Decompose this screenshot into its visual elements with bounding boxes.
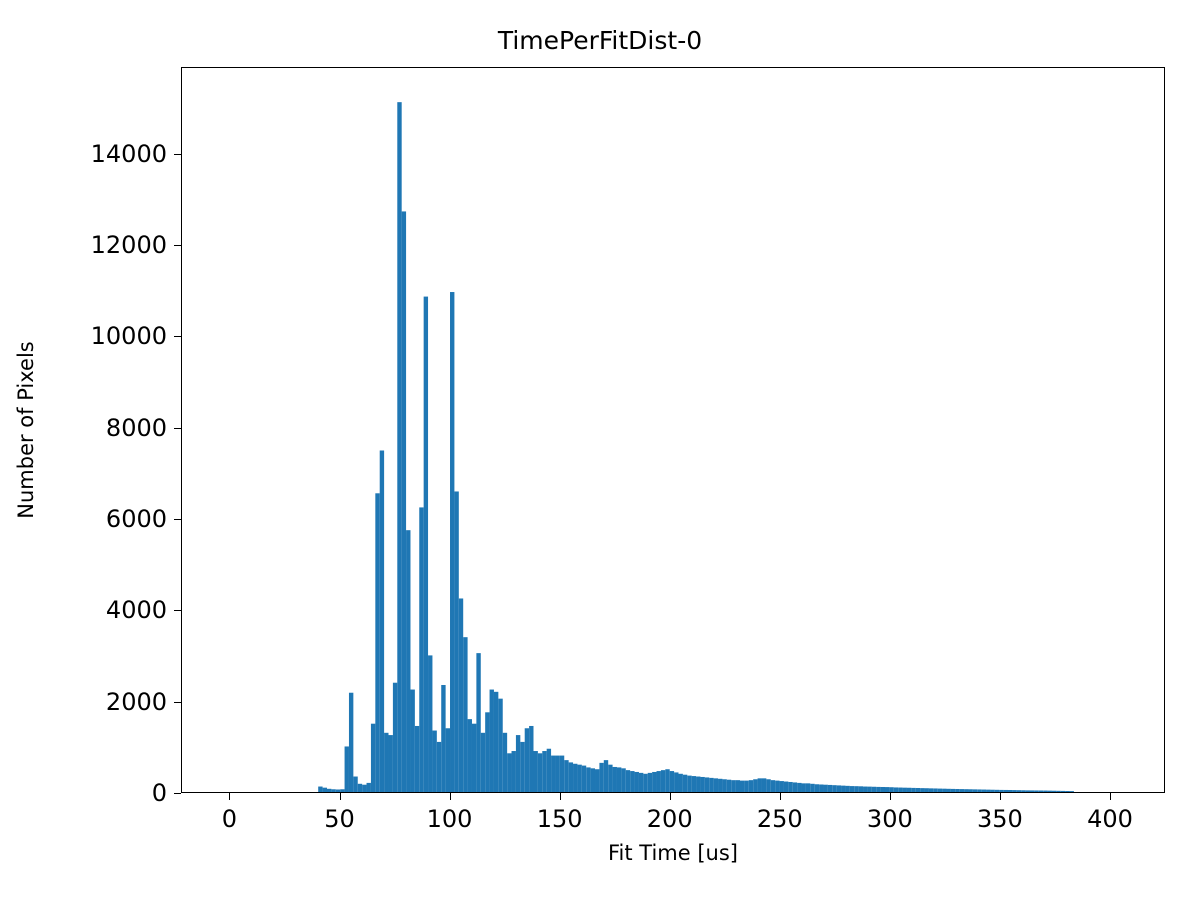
histogram-bar [819, 784, 823, 792]
histogram-bar [367, 783, 371, 792]
histogram-bar [854, 786, 858, 792]
histogram-bar [700, 777, 704, 792]
histogram-bar [648, 773, 652, 792]
histogram-bar [331, 789, 335, 792]
x-tick-label: 50 [324, 805, 355, 833]
x-tick-label: 250 [757, 805, 803, 833]
y-tick-label: 14000 [0, 140, 167, 168]
histogram-bar [968, 789, 972, 792]
histogram-bar [525, 728, 529, 792]
histogram-bar [740, 781, 744, 792]
histogram-bar [806, 783, 810, 792]
histogram-bar [490, 690, 494, 792]
histogram-bar [393, 683, 397, 792]
x-tick-mark [890, 793, 891, 800]
histogram-bar [323, 788, 327, 792]
histogram-bar [771, 780, 775, 792]
histogram-bar [621, 768, 625, 792]
histogram-bar [569, 762, 573, 792]
histogram-bar [867, 787, 871, 792]
y-tick-mark [174, 428, 181, 429]
histogram-bar [555, 756, 559, 792]
histogram-bar [410, 690, 414, 792]
y-tick-label: 12000 [0, 231, 167, 259]
x-tick-label: 300 [867, 805, 913, 833]
x-tick-mark [670, 793, 671, 800]
histogram-bar [977, 789, 981, 792]
histogram-bar [1048, 791, 1052, 792]
histogram-bar [1008, 790, 1012, 792]
histogram-bar [380, 450, 384, 792]
histogram-bar [925, 788, 929, 792]
histogram-bar [397, 102, 401, 792]
histogram-bar [815, 784, 819, 792]
histogram-bar [973, 789, 977, 792]
histogram-bar [911, 788, 915, 792]
histogram-bar [942, 789, 946, 792]
histogram-bar [564, 760, 568, 792]
histogram-bar [762, 778, 766, 792]
histogram-bar [389, 735, 393, 792]
histogram-bar [1026, 790, 1030, 792]
histogram-bar [529, 726, 533, 792]
histogram-bar [520, 742, 524, 792]
histogram-bar [665, 769, 669, 792]
histogram-bar [586, 767, 590, 792]
histogram-bar [1004, 790, 1008, 792]
histogram-bar [336, 789, 340, 792]
histogram-bar [446, 728, 450, 792]
histogram-bar [635, 772, 639, 792]
histogram-bar [692, 776, 696, 792]
histogram-bar [775, 781, 779, 792]
histogram-bar [327, 789, 331, 792]
histogram-bar [406, 530, 410, 792]
histogram-bar [371, 724, 375, 792]
histogram-bar [881, 787, 885, 792]
histogram-bar [894, 787, 898, 792]
histogram-bar [481, 733, 485, 792]
histogram-bar [990, 790, 994, 792]
y-tick-label: 2000 [0, 688, 167, 716]
histogram-bar [889, 787, 893, 792]
histogram-bar [617, 767, 621, 792]
histogram-bar [986, 790, 990, 792]
histogram-bars-svg [182, 68, 1164, 792]
histogram-bar [1056, 791, 1060, 792]
histogram-bar [903, 788, 907, 792]
y-tick-mark [174, 610, 181, 611]
histogram-bar [744, 781, 748, 792]
histogram-bar [507, 753, 511, 792]
histogram-bar [1034, 790, 1038, 792]
x-tick-label: 200 [647, 805, 693, 833]
histogram-bar [516, 735, 520, 792]
histogram-bar [485, 712, 489, 792]
histogram-bar [705, 777, 709, 792]
histogram-bar [652, 772, 656, 792]
histogram-bar [1030, 790, 1034, 792]
histogram-bar [845, 786, 849, 792]
histogram-bar [929, 788, 933, 792]
histogram-bar [731, 780, 735, 792]
histogram-bar [850, 786, 854, 792]
histogram-bar [714, 778, 718, 792]
histogram-bar [678, 774, 682, 792]
histogram-bar [687, 776, 691, 792]
histogram-bar [468, 719, 472, 792]
histogram-bar [428, 655, 432, 792]
histogram-bar [604, 760, 608, 792]
histogram-bar [885, 787, 889, 792]
histogram-bar [547, 749, 551, 792]
histogram-bar [1012, 790, 1016, 792]
histogram-bar [859, 786, 863, 792]
y-tick-mark [174, 154, 181, 155]
histogram-bar [898, 788, 902, 792]
histogram-bar [1052, 791, 1056, 792]
histogram-bar [613, 767, 617, 792]
x-tick-label: 400 [1087, 805, 1133, 833]
histogram-bar [823, 785, 827, 792]
histogram-bar [718, 779, 722, 792]
histogram-bar [797, 783, 801, 792]
x-tick-label: 100 [427, 805, 473, 833]
histogram-bar [643, 774, 647, 792]
histogram-bar [512, 751, 516, 792]
histogram-bar [872, 787, 876, 792]
histogram-bar [841, 786, 845, 792]
x-tick-label: 0 [222, 805, 237, 833]
histogram-bar [345, 746, 349, 792]
histogram-bar [709, 778, 713, 792]
histogram-bar [670, 771, 674, 792]
histogram-bar [402, 211, 406, 792]
histogram-bar [793, 782, 797, 792]
histogram-bar [582, 766, 586, 792]
histogram-bar [538, 753, 542, 792]
histogram-bar [533, 751, 537, 792]
x-tick-mark [229, 793, 230, 800]
histogram-bar [362, 785, 366, 792]
histogram-bar [454, 491, 458, 792]
histogram-bar [780, 781, 784, 792]
x-axis-label: Fit Time [us] [181, 841, 1165, 865]
histogram-bar [560, 756, 564, 792]
histogram-bar [551, 756, 555, 792]
x-tick-mark [1000, 793, 1001, 800]
y-tick-label: 4000 [0, 596, 167, 624]
histogram-bar [727, 780, 731, 792]
histogram-bar [995, 790, 999, 792]
histogram-bar [1065, 791, 1069, 792]
histogram-bar [938, 789, 942, 792]
histogram-bar [1070, 791, 1074, 792]
x-tick-mark [450, 793, 451, 800]
histogram-bar [349, 693, 353, 792]
histogram-bar [661, 770, 665, 792]
histogram-bar [463, 637, 467, 792]
histogram-bar [353, 777, 357, 792]
y-tick-mark [174, 336, 181, 337]
histogram-bar [472, 724, 476, 792]
x-tick-label: 350 [977, 805, 1023, 833]
histogram-bar [947, 789, 951, 792]
histogram-bar [503, 733, 507, 792]
y-tick-mark [174, 519, 181, 520]
y-tick-mark [174, 702, 181, 703]
histogram-bar [802, 783, 806, 792]
x-tick-mark [1110, 793, 1111, 800]
y-axis-label: Number of Pixels [14, 341, 38, 518]
histogram-bar [784, 782, 788, 792]
histogram-bar [960, 789, 964, 792]
histogram-bar [920, 788, 924, 792]
histogram-bar [837, 785, 841, 792]
histogram-bar [736, 780, 740, 792]
histogram-bar [674, 772, 678, 792]
histogram-bar [964, 789, 968, 792]
histogram-bar [758, 778, 762, 792]
histogram-bar [863, 787, 867, 792]
histogram-bar [1021, 790, 1025, 792]
y-tick-label: 0 [0, 779, 167, 807]
histogram-bar [591, 768, 595, 792]
histogram-bar [358, 784, 362, 792]
x-tick-label: 150 [537, 805, 583, 833]
histogram-bar [907, 788, 911, 792]
histogram-bar [828, 785, 832, 792]
histogram-bar [933, 788, 937, 792]
histogram-bar [441, 685, 445, 792]
histogram-bar [982, 790, 986, 792]
histogram-bar [424, 297, 428, 792]
histogram-bar [639, 773, 643, 792]
histogram-bar [450, 292, 454, 792]
histogram-bar [542, 751, 546, 792]
histogram-bar [318, 787, 322, 792]
histogram-bar [573, 764, 577, 792]
histogram-bar [683, 775, 687, 792]
histogram-bar [494, 692, 498, 792]
histogram-bar [384, 733, 388, 792]
histogram-bar [415, 726, 419, 792]
histogram-bar [657, 771, 661, 792]
histogram-bar [955, 789, 959, 792]
histogram-bar [916, 788, 920, 792]
histogram-bar [608, 765, 612, 792]
histogram-bar [753, 779, 757, 792]
histogram-bar [951, 789, 955, 792]
histogram-bar [476, 653, 480, 792]
x-tick-mark [780, 793, 781, 800]
histogram-bar [766, 779, 770, 792]
histogram-bar [1043, 791, 1047, 792]
histogram-bar [696, 777, 700, 792]
chart-title: TimePerFitDist-0 [0, 26, 1200, 56]
histogram-bar [498, 699, 502, 792]
histogram-bar [749, 780, 753, 792]
plot-area [181, 67, 1165, 793]
histogram-figure: TimePerFitDist-0 05010015020025030035040… [0, 0, 1200, 900]
y-tick-mark [174, 245, 181, 246]
histogram-bar [722, 779, 726, 792]
histogram-bar [599, 763, 603, 792]
histogram-bar [577, 765, 581, 792]
histogram-bar [340, 789, 344, 792]
histogram-bar [832, 785, 836, 792]
histogram-bar [876, 787, 880, 792]
histogram-bar [459, 598, 463, 792]
y-tick-mark [174, 793, 181, 794]
histogram-bar [595, 769, 599, 792]
histogram-bar [432, 731, 436, 792]
histogram-bar [810, 784, 814, 792]
x-tick-mark [560, 793, 561, 800]
histogram-bar [375, 493, 379, 792]
histogram-bar [788, 782, 792, 792]
histogram-bar [999, 790, 1003, 792]
histogram-bars [182, 68, 1164, 792]
histogram-bar [1061, 791, 1065, 792]
histogram-bar [630, 771, 634, 792]
x-tick-mark [340, 793, 341, 800]
histogram-bar [1017, 790, 1021, 792]
histogram-bar [437, 742, 441, 792]
histogram-bar [419, 507, 423, 792]
histogram-bar [626, 770, 630, 792]
histogram-bar [1039, 790, 1043, 792]
